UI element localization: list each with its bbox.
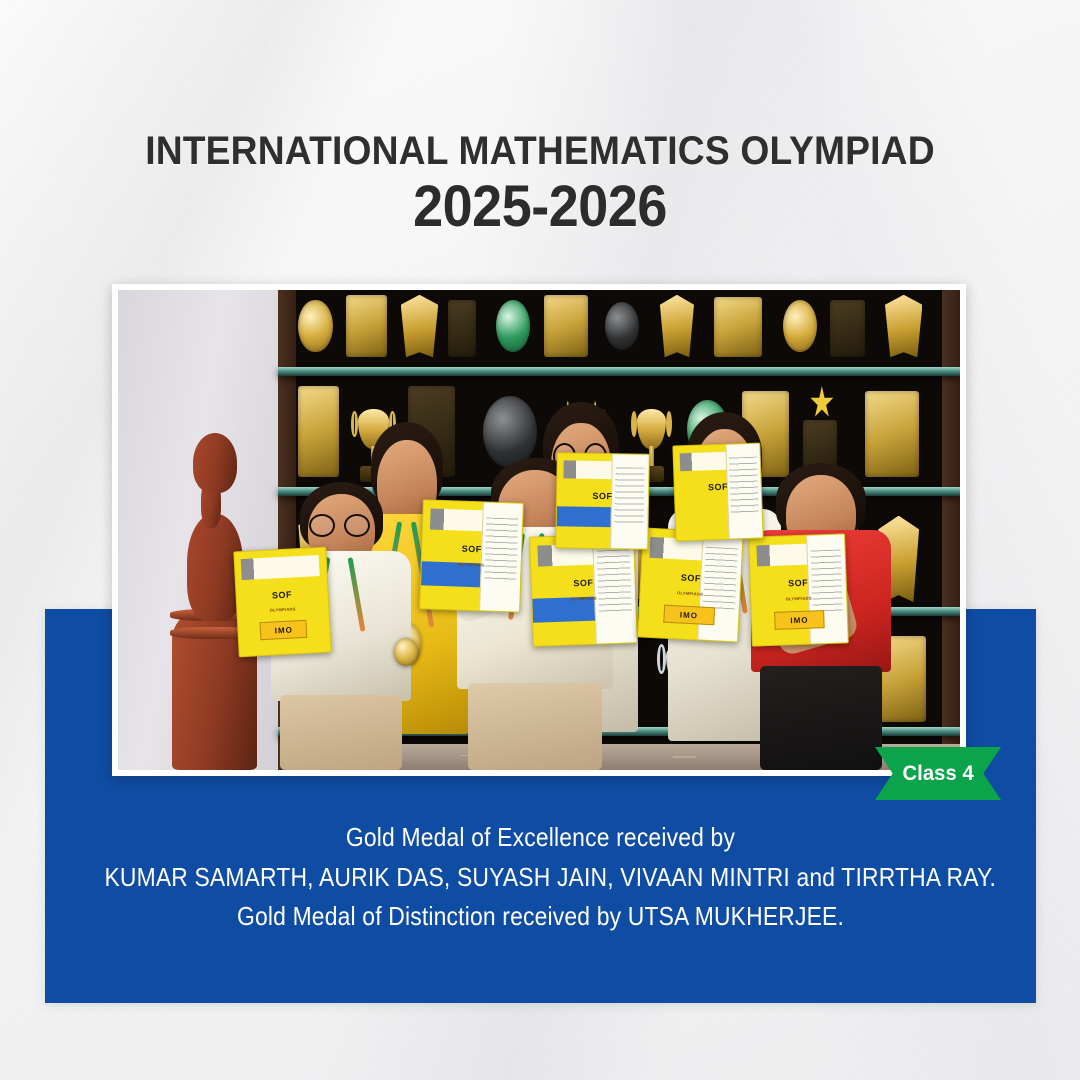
certificate-logo-sub: OLYMPIADS xyxy=(570,595,596,601)
photo-frame: SOF OLYMPIADS IMO SOF OLYMPIADS SOF OLYM… xyxy=(112,284,966,776)
certificate: SOF OLYMPIADS xyxy=(529,533,638,647)
class-ribbon-badge: Class 4 xyxy=(875,747,1001,800)
title-line-year: 2025-2026 xyxy=(38,176,1042,239)
certificate-badge: IMO xyxy=(774,610,824,630)
certificate-logo-sub: OLYMPIADS xyxy=(677,590,703,596)
certificate-logo: SOF xyxy=(272,591,292,601)
page-title: INTERNATIONAL MATHEMATICS OLYMPIAD 2025-… xyxy=(0,131,1080,238)
certificate-badge: IMO xyxy=(663,604,715,625)
certificate-logo: SOF xyxy=(462,545,482,555)
title-line-event: INTERNATIONAL MATHEMATICS OLYMPIAD xyxy=(38,131,1042,172)
certificate-logo: SOF xyxy=(788,579,808,589)
certificate: SOF xyxy=(555,452,649,550)
caption-line-2: KUMAR SAMARTH, AURIK DAS, SUYASH JAIN, V… xyxy=(104,858,976,898)
class-ribbon-label: Class 4 xyxy=(902,762,973,786)
certificate-logo: SOF xyxy=(592,492,612,501)
certificate: SOF OLYMPIADS IMO xyxy=(233,547,331,657)
certificate: SOF OLYMPIADS IMO xyxy=(637,527,744,643)
certificate-logo: SOF xyxy=(681,574,701,584)
certificate: SOF xyxy=(672,442,764,541)
certificate-logo: SOF xyxy=(573,579,593,589)
certificate: SOF OLYMPIADS IMO xyxy=(748,533,849,647)
caption-line-1: Gold Medal of Excellence received by xyxy=(104,818,976,858)
certificate-logo-sub: OLYMPIADS xyxy=(269,606,295,612)
certificate-logo: SOF xyxy=(708,482,728,492)
certificate-badge: IMO xyxy=(260,620,308,640)
certificate-logo-sub: OLYMPIADS xyxy=(785,595,811,601)
caption-block: Gold Medal of Excellence received by KUM… xyxy=(45,818,1036,937)
certificate: SOF OLYMPIADS xyxy=(419,499,524,613)
caption-line-3: Gold Medal of Distinction received by UT… xyxy=(104,897,976,937)
poster-canvas: INTERNATIONAL MATHEMATICS OLYMPIAD 2025-… xyxy=(0,0,1080,1080)
group-photo: SOF OLYMPIADS IMO SOF OLYMPIADS SOF OLYM… xyxy=(118,290,960,770)
